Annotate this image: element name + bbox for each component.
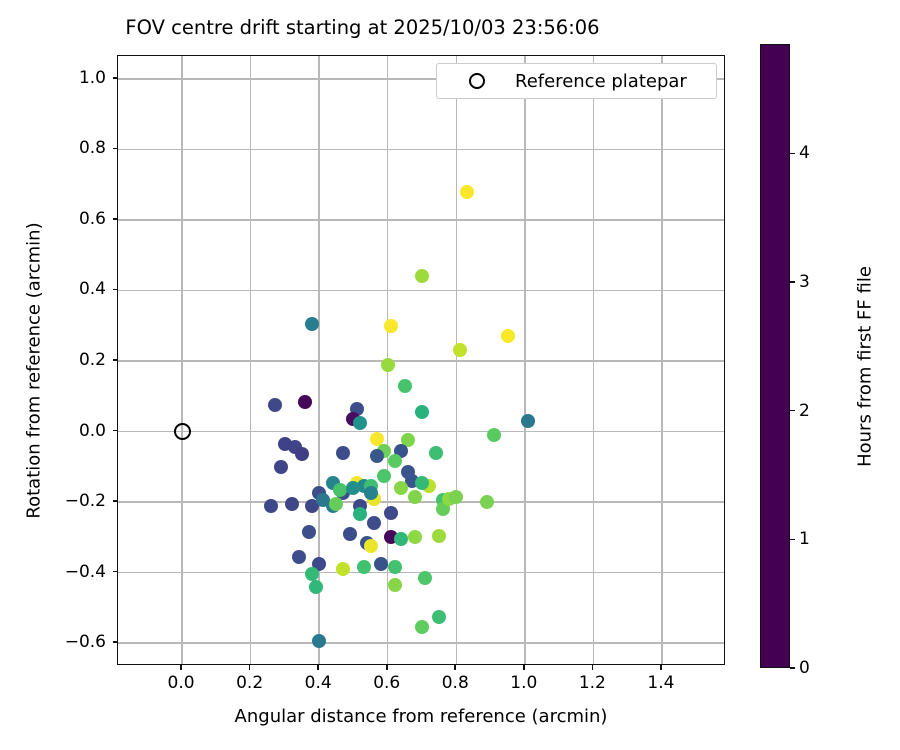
- colorbar-tick-mark-1: [790, 539, 795, 541]
- scatter-point: [432, 610, 446, 624]
- scatter-point: [370, 449, 384, 463]
- x-tick-label-4: 0.8: [442, 673, 469, 693]
- colorbar-tick-mark-3: [790, 281, 795, 283]
- y-tick-label-3: 0.0: [40, 421, 106, 441]
- matplotlib-figure: FOV centre drift starting at 2025/10/03 …: [0, 0, 900, 750]
- x-tick-mark-7: [660, 665, 662, 670]
- scatter-point: [312, 634, 326, 648]
- scatter-point: [329, 497, 343, 511]
- scatter-point: [333, 483, 347, 497]
- x-tick-label-6: 1.2: [579, 673, 606, 693]
- scatter-point: [384, 319, 398, 333]
- y-tick-mark-6: [113, 218, 118, 220]
- y-tick-mark-1: [113, 571, 118, 573]
- scatter-point: [388, 578, 402, 592]
- scatter-point: [408, 490, 422, 504]
- y-tick-mark-0: [113, 641, 118, 643]
- scatter-point: [309, 580, 323, 594]
- y-tick-mark-3: [113, 430, 118, 432]
- x-tick-mark-2: [317, 665, 319, 670]
- y-tick-label-5: 0.4: [40, 279, 106, 299]
- scatter-point: [415, 269, 429, 283]
- scatter-point: [302, 525, 316, 539]
- y-tick-label-6: 0.6: [40, 209, 106, 229]
- y-tick-label-2: −0.2: [40, 491, 106, 511]
- x-tick-mark-3: [386, 665, 388, 670]
- y-tick-label-1: −0.4: [40, 562, 106, 582]
- scatter-point: [336, 562, 350, 576]
- colorbar-tick-label-3: 3: [799, 272, 810, 292]
- x-tick-label-3: 0.6: [373, 673, 400, 693]
- scatter-point: [415, 620, 429, 634]
- scatter-point: [429, 446, 443, 460]
- colorbar-tick-mark-4: [790, 153, 795, 155]
- scatter-point: [432, 529, 446, 543]
- legend-box: Reference platepar: [436, 63, 717, 99]
- scatter-point: [377, 469, 391, 483]
- scatter-point: [268, 398, 282, 412]
- scatter-point: [292, 550, 306, 564]
- scatter-point: [384, 506, 398, 520]
- y-tick-mark-4: [113, 359, 118, 361]
- scatter-point: [381, 358, 395, 372]
- y-tick-label-0: −0.6: [40, 632, 106, 652]
- scatter-point: [480, 495, 494, 509]
- scatter-point: [394, 481, 408, 495]
- scatter-point: [285, 497, 299, 511]
- scatter-point: [353, 507, 367, 521]
- x-tick-label-5: 1.0: [510, 673, 537, 693]
- colorbar-tick-mark-0: [790, 667, 795, 669]
- y-tick-mark-2: [113, 500, 118, 502]
- colorbar-tick-label-1: 1: [799, 529, 810, 549]
- scatter-point: [305, 317, 319, 331]
- scatter-point: [394, 532, 408, 546]
- scatter-point: [501, 329, 515, 343]
- scatter-point: [398, 379, 412, 393]
- y-tick-label-4: 0.2: [40, 350, 106, 370]
- scatter-point: [453, 343, 467, 357]
- colorbar-tick-label-0: 0: [799, 658, 810, 678]
- colorbar-gradient: [761, 45, 789, 667]
- scatter-point: [487, 428, 501, 442]
- scatter-point: [388, 454, 402, 468]
- x-tick-mark-1: [249, 665, 251, 670]
- scatter-point: [316, 493, 330, 507]
- y-axis-label: Rotation from reference (arcmin): [24, 221, 45, 521]
- x-tick-label-7: 1.4: [647, 673, 674, 693]
- y-tick-label-8: 1.0: [40, 68, 106, 88]
- scatter-point: [374, 557, 388, 571]
- plot-axes: [117, 55, 725, 665]
- scatter-point: [336, 446, 350, 460]
- colorbar-label: Hours from first FF file: [855, 202, 876, 532]
- colorbar: [760, 44, 790, 668]
- colorbar-tick-label-2: 2: [799, 401, 810, 421]
- reference-platepar-marker-icon: [469, 73, 485, 89]
- x-tick-mark-4: [454, 665, 456, 670]
- y-tick-mark-8: [113, 77, 118, 79]
- scatter-point-layer: [118, 56, 724, 664]
- scatter-point: [460, 185, 474, 199]
- scatter-point: [415, 476, 429, 490]
- reference-platepar-point: [174, 423, 191, 440]
- scatter-point: [264, 499, 278, 513]
- y-tick-label-7: 0.8: [40, 138, 106, 158]
- x-tick-mark-6: [592, 665, 594, 670]
- scatter-point: [278, 437, 292, 451]
- x-tick-label-2: 0.4: [305, 673, 332, 693]
- chart-title: FOV centre drift starting at 2025/10/03 …: [0, 16, 725, 39]
- y-tick-mark-5: [113, 289, 118, 291]
- x-axis-label: Angular distance from reference (arcmin): [117, 706, 725, 727]
- x-tick-mark-5: [523, 665, 525, 670]
- scatter-point: [449, 490, 463, 504]
- scatter-point: [388, 560, 402, 574]
- scatter-point: [343, 527, 357, 541]
- scatter-point: [353, 416, 367, 430]
- colorbar-tick-mark-2: [790, 410, 795, 412]
- y-tick-mark-7: [113, 148, 118, 150]
- colorbar-tick-label-4: 4: [799, 143, 810, 163]
- legend-entry-label: Reference platepar: [515, 71, 687, 92]
- scatter-point: [364, 486, 378, 500]
- scatter-point: [357, 560, 371, 574]
- scatter-point: [415, 405, 429, 419]
- scatter-point: [367, 516, 381, 530]
- scatter-point: [346, 481, 360, 495]
- scatter-point: [298, 395, 312, 409]
- x-tick-label-1: 0.2: [236, 673, 263, 693]
- scatter-point: [521, 414, 535, 428]
- scatter-point: [408, 530, 422, 544]
- x-tick-label-0: 0.0: [168, 673, 195, 693]
- scatter-point: [418, 571, 432, 585]
- scatter-point: [364, 539, 378, 553]
- x-tick-mark-0: [180, 665, 182, 670]
- scatter-point: [295, 447, 309, 461]
- scatter-point: [274, 460, 288, 474]
